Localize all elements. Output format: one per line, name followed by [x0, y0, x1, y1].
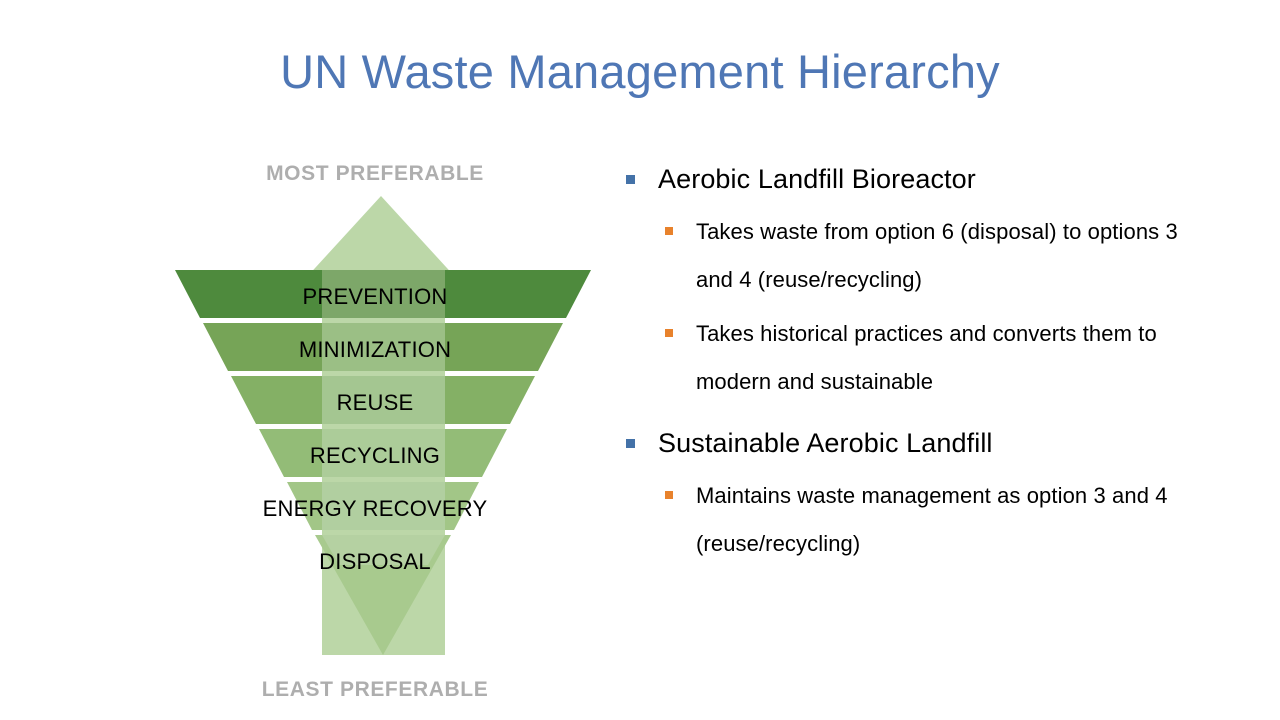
pyramid-shapes	[120, 150, 630, 710]
content-bullet-list: Aerobic Landfill Bioreactor Takes waste …	[620, 160, 1220, 574]
waste-hierarchy-diagram: MOST PREFERABLE	[120, 150, 630, 710]
tier-energy-recovery[interactable]	[287, 482, 479, 530]
list-item[interactable]: Takes waste from option 6 (disposal) to …	[620, 208, 1220, 304]
spacer	[620, 412, 1220, 424]
page-title: UN Waste Management Hierarchy	[0, 44, 1280, 99]
bullet-square-blue-icon	[626, 175, 635, 184]
tier-prevention[interactable]	[175, 270, 591, 318]
bullet-heading: Sustainable Aerobic Landfill	[658, 428, 993, 458]
bullet-subpoint: Takes historical practices and converts …	[696, 321, 1157, 394]
bullet-square-orange-icon	[665, 329, 673, 337]
list-item[interactable]: Maintains waste management as option 3 a…	[620, 472, 1220, 568]
bullet-square-orange-icon	[665, 491, 673, 499]
least-preferable-caption: LEAST PREFERABLE	[120, 678, 630, 702]
tier-reuse[interactable]	[231, 376, 535, 424]
list-item[interactable]: Sustainable Aerobic Landfill	[620, 424, 1220, 462]
list-item[interactable]: Takes historical practices and converts …	[620, 310, 1220, 406]
bullet-subpoint: Maintains waste management as option 3 a…	[696, 483, 1168, 556]
bullet-square-blue-icon	[626, 439, 635, 448]
list-item[interactable]: Aerobic Landfill Bioreactor	[620, 160, 1220, 198]
bullet-heading: Aerobic Landfill Bioreactor	[658, 164, 976, 194]
tier-recycling[interactable]	[259, 429, 507, 477]
bullet-square-orange-icon	[665, 227, 673, 235]
bullet-subpoint: Takes waste from option 6 (disposal) to …	[696, 219, 1178, 292]
tier-minimization[interactable]	[203, 323, 563, 371]
